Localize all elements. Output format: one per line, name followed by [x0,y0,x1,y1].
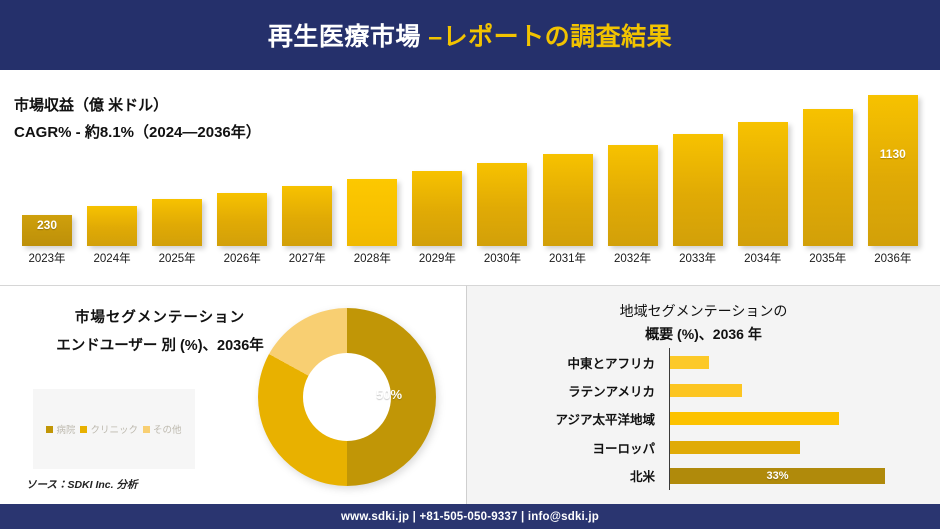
revenue-bar [738,122,788,246]
regional-axis-line [669,348,670,490]
revenue-bar-value: 230 [22,218,72,232]
revenue-year-label: 2032年 [604,250,662,266]
source-note: ソース：SDKI Inc. 分析 [26,477,137,492]
revenue-bar: 1130 [868,95,918,246]
donut-legend-item: クリニック [80,422,138,436]
regional-row: 中東とアフリカ [491,351,917,373]
regional-row-label: 北米 [491,466,663,485]
regional-row-label: ヨーロッパ [491,438,663,457]
revenue-bar-column [604,78,662,246]
segmentation-panel: 市場セグメンテーション エンドユーザー 別 (%)、2036年 病院クリニックそ… [0,285,466,504]
header-band: 再生医療市場 –レポートの調査結果 [0,0,940,70]
revenue-bar [673,134,723,246]
revenue-bar [347,179,397,246]
revenue-bar-column [148,78,206,246]
regional-panel: 地域セグメンテーションの 概要 (%)、2036 年 中東とアフリカラテンアメリ… [466,285,940,504]
revenue-bar-column [213,78,271,246]
revenue-bar [803,109,853,246]
regional-title: 地域セグメンテーションの 概要 (%)、2036 年 [467,300,940,346]
revenue-bar-column [278,78,336,246]
regional-row-label: ラテンアメリカ [491,381,663,400]
segmentation-legend: 病院クリニックその他 [46,422,181,436]
regional-title-line2: 概要 (%)、2036 年 [467,323,940,346]
revenue-year-label: 2031年 [539,250,597,266]
donut-chart: 50% [258,308,436,486]
revenue-bar-column [408,78,466,246]
revenue-bar-column: 1130 [864,78,922,246]
regional-bar [670,356,709,369]
revenue-bars-area: 2301130 [18,78,922,246]
revenue-year-label: 2028年 [343,250,401,266]
segmentation-legend-box: 病院クリニックその他 [33,389,195,469]
revenue-year-label: 2025年 [148,250,206,266]
regional-bar-track [663,436,917,458]
page-title-main: 再生医療市場 [268,23,428,51]
revenue-year-label: 2034年 [734,250,792,266]
regional-bar: 33% [670,468,885,484]
revenue-bar-column [799,78,857,246]
regional-chart: 中東とアフリカラテンアメリカアジア太平洋地域ヨーロッパ北米33% [491,348,917,490]
footer-band: www.sdki.jp | +81-505-050-9337 | info@sd… [0,504,940,529]
regional-bar-value: 33% [766,470,788,482]
revenue-bar [217,193,267,246]
revenue-bar [87,206,137,246]
regional-bar-track [663,351,917,373]
donut-legend-item: その他 [143,422,182,436]
regional-bar-track: 33% [663,465,917,487]
revenue-year-label: 2036年 [864,250,922,266]
legend-swatch-icon [80,426,87,433]
revenue-year-label: 2033年 [669,250,727,266]
regional-row: 北米33% [491,465,917,487]
revenue-bar-column [734,78,792,246]
donut-legend-item: 病院 [46,422,75,436]
revenue-year-label: 2027年 [278,250,336,266]
donut-legend-label: その他 [153,422,182,436]
regional-title-line1: 地域セグメンテーションの [467,300,940,323]
revenue-bar-column [343,78,401,246]
revenue-year-axis: 2023年2024年2025年2026年2027年2028年2029年2030年… [18,250,922,266]
donut-value-label: 50% [376,387,402,402]
revenue-bar [608,145,658,246]
regional-bar-track [663,408,917,430]
revenue-chart-panel: 市場収益（億 米ドル） CAGR% - 約8.1%（2024―2036年） 23… [0,70,940,285]
revenue-year-label: 2023年 [18,250,76,266]
regional-row: アジア太平洋地域 [491,408,917,430]
revenue-year-label: 2030年 [473,250,531,266]
revenue-year-label: 2029年 [408,250,466,266]
donut-legend-label: 病院 [56,422,75,436]
revenue-bar: 230 [22,215,72,246]
revenue-bar-column: 230 [18,78,76,246]
revenue-bar [282,186,332,246]
donut-legend-label: クリニック [90,422,138,436]
footer-contact: www.sdki.jp | +81-505-050-9337 | info@sd… [341,511,599,523]
revenue-bar-column [473,78,531,246]
revenue-bar-column [669,78,727,246]
infographic-root: 再生医療市場 –レポートの調査結果 市場収益（億 米ドル） CAGR% - 約8… [0,0,940,529]
revenue-year-label: 2026年 [213,250,271,266]
revenue-bars-row: 2301130 [18,78,922,246]
regional-row: ラテンアメリカ [491,380,917,402]
regional-rows: 中東とアフリカラテンアメリカアジア太平洋地域ヨーロッパ北米33% [491,348,917,490]
legend-swatch-icon [46,426,53,433]
regional-bar [670,384,742,397]
revenue-bar-value: 1130 [868,147,918,161]
regional-bar [670,412,839,425]
legend-swatch-icon [143,426,150,433]
page-title: 再生医療市場 –レポートの調査結果 [268,17,672,53]
page-title-accent: –レポートの調査結果 [428,23,672,51]
revenue-bar-column [83,78,141,246]
revenue-bar [543,154,593,246]
regional-bar [670,441,800,454]
revenue-bar [412,171,462,246]
regional-row: ヨーロッパ [491,436,917,458]
revenue-bar [152,199,202,246]
revenue-bar [477,163,527,246]
revenue-year-label: 2024年 [83,250,141,266]
regional-row-label: 中東とアフリカ [491,353,663,372]
revenue-year-label: 2035年 [799,250,857,266]
regional-bar-track [663,380,917,402]
revenue-bar-column [539,78,597,246]
regional-row-label: アジア太平洋地域 [491,409,663,428]
